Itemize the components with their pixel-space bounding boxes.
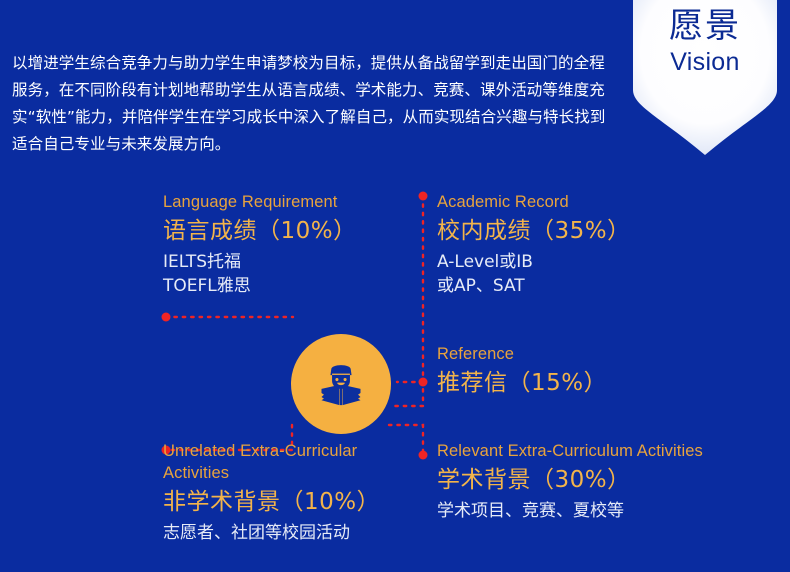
vision-ribbon: 愿景 Vision bbox=[631, 0, 779, 156]
node-academic-kicker: Academic Record bbox=[437, 191, 697, 213]
intro-paragraph-text: 以增进学生综合竞争力与助力学生申请梦校为目标，提供从备战留学到走出国门的全程服务… bbox=[12, 50, 612, 158]
node-unrelated[interactable]: Unrelated Extra-Curricular Activities 非学… bbox=[163, 440, 413, 545]
ribbon-title-cn: 愿景 bbox=[631, 6, 779, 46]
node-language-detail-line-2: TOEFL雅思 bbox=[163, 274, 413, 298]
node-relevant-kicker: Relevant Extra-Curriculum Activities bbox=[437, 440, 727, 462]
node-language-detail: IELTS托福 TOEFL雅思 bbox=[163, 250, 413, 298]
node-academic-detail-line-2: 或AP、SAT bbox=[437, 274, 697, 298]
node-language-headline: 语言成绩（10%） bbox=[163, 214, 413, 248]
connector-dot-reference bbox=[419, 378, 428, 387]
connector-dot-relevant bbox=[419, 451, 428, 460]
node-academic[interactable]: Academic Record 校内成绩（35%） A-Level或IB 或AP… bbox=[437, 191, 697, 298]
node-academic-detail: A-Level或IB 或AP、SAT bbox=[437, 250, 697, 298]
node-reference-headline: 推荐信（15%） bbox=[437, 366, 687, 400]
node-relevant[interactable]: Relevant Extra-Curriculum Activities 学术背… bbox=[437, 440, 727, 523]
hub-circle bbox=[291, 334, 391, 434]
intro-paragraph-block: 以增进学生综合竞争力与助力学生申请梦校为目标，提供从备战留学到走出国门的全程服务… bbox=[12, 50, 612, 158]
node-academic-detail-line-1: A-Level或IB bbox=[437, 250, 697, 274]
ribbon-text-block: 愿景 Vision bbox=[631, 6, 779, 76]
node-language-detail-line-1: IELTS托福 bbox=[163, 250, 413, 274]
node-unrelated-headline: 非学术背景（10%） bbox=[163, 485, 413, 519]
node-unrelated-kicker: Unrelated Extra-Curricular Activities bbox=[163, 440, 413, 484]
node-language-kicker: Language Requirement bbox=[163, 191, 413, 213]
vision-infographic: 愿景 Vision 以增进学生综合竞争力与助力学生申请梦校为目标，提供从备战留学… bbox=[0, 0, 790, 572]
node-relevant-headline: 学术背景（30%） bbox=[437, 463, 727, 497]
node-language[interactable]: Language Requirement 语言成绩（10%） IELTS托福 T… bbox=[163, 191, 413, 298]
connector-dot-language bbox=[162, 313, 171, 322]
node-unrelated-detail: 志愿者、社团等校园活动 bbox=[163, 521, 413, 545]
node-academic-headline: 校内成绩（35%） bbox=[437, 214, 697, 248]
student-reading-book-icon bbox=[315, 358, 367, 410]
weighting-diagram: Language Requirement 语言成绩（10%） IELTS托福 T… bbox=[0, 175, 790, 572]
connector-dot-academic bbox=[419, 192, 428, 201]
node-relevant-detail: 学术项目、竞赛、夏校等 bbox=[437, 499, 727, 523]
ribbon-shield-shape bbox=[631, 0, 779, 156]
node-reference[interactable]: Reference 推荐信（15%） bbox=[437, 343, 687, 400]
node-reference-kicker: Reference bbox=[437, 343, 687, 365]
ribbon-title-en: Vision bbox=[631, 48, 779, 76]
